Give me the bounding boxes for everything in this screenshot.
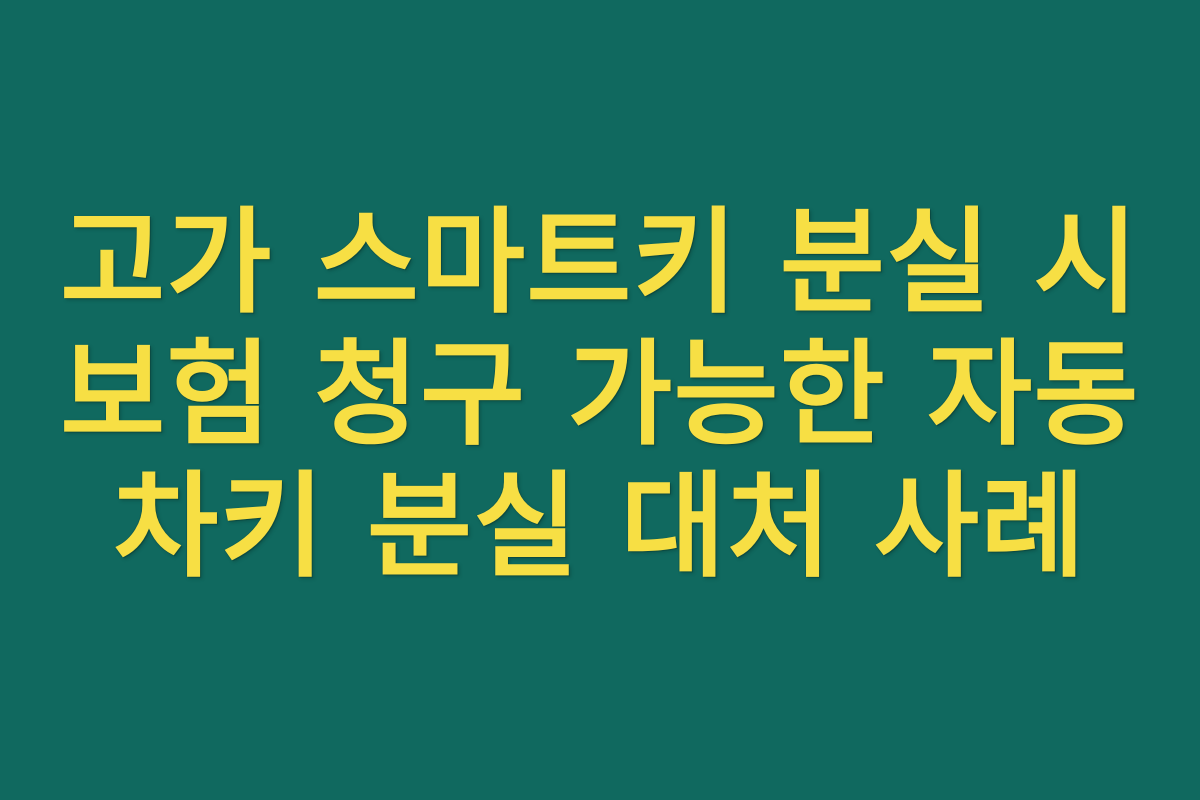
- title-card: 고가 스마트키 분실 시 보험 청구 가능한 자동 차키 분실 대처 사례: [0, 0, 1200, 800]
- title-line-1: 고가 스마트키 분실 시: [60, 197, 1139, 329]
- page-title: 고가 스마트키 분실 시 보험 청구 가능한 자동 차키 분실 대처 사례: [50, 197, 1150, 593]
- title-line-2: 보험 청구 가능한 자동: [60, 329, 1139, 461]
- title-line-3: 차키 분실 대처 사례: [113, 461, 1086, 593]
